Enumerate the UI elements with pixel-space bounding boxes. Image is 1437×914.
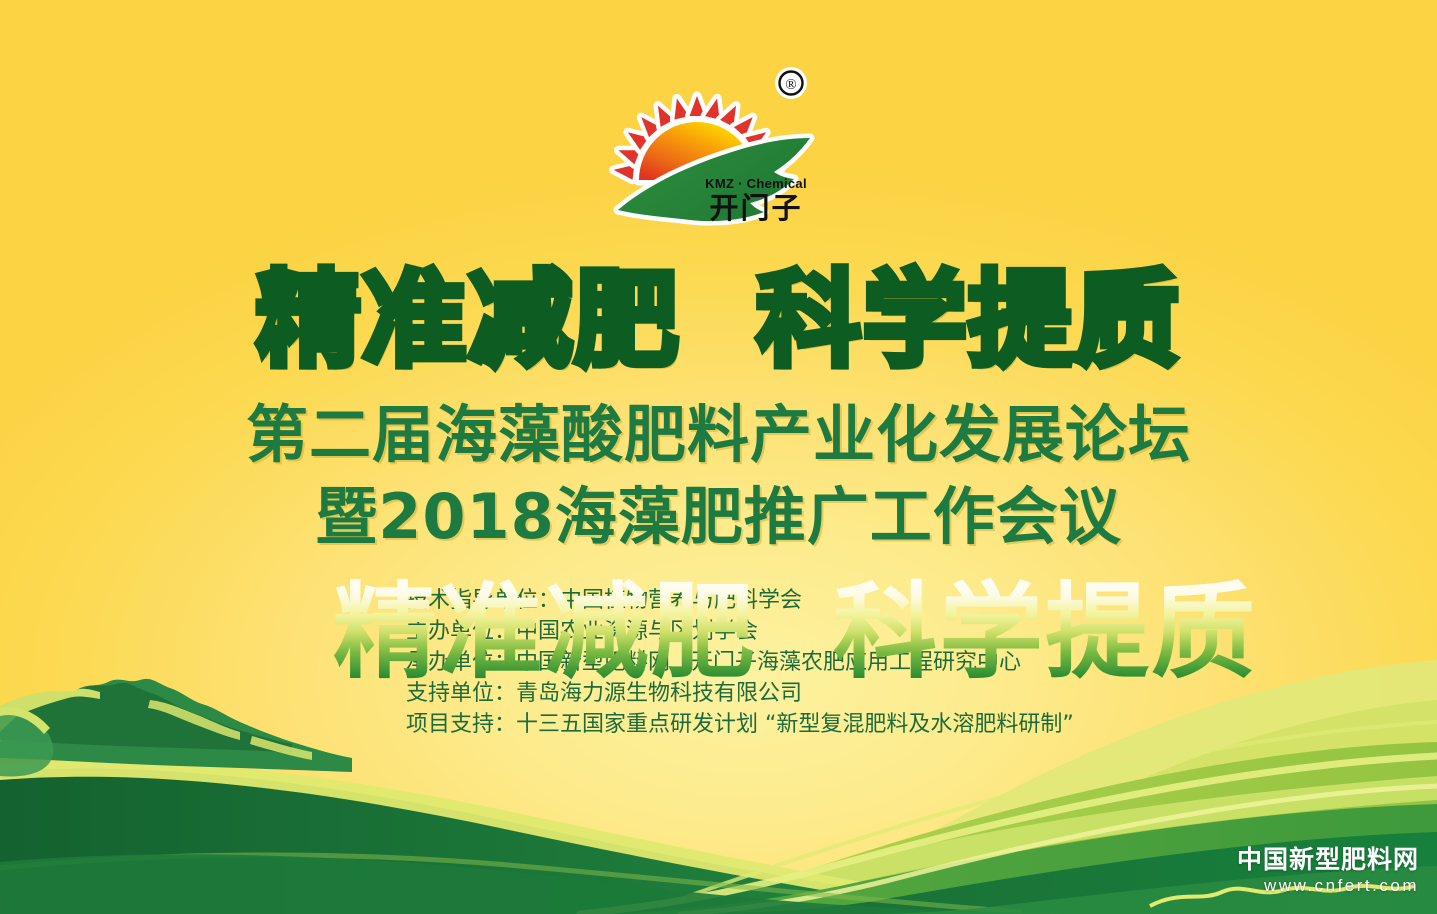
brand-cn-text: 开门子: [709, 191, 802, 225]
brand-latin-text: KMZ · Chemical: [705, 176, 807, 191]
headline-stroke-layer: 精准减肥 科学提质: [0, 268, 1437, 372]
site-watermark: 中国新型肥料网 www.cnfert.com: [1237, 845, 1419, 896]
hill-layer-foreground: [0, 854, 1437, 914]
conference-poster: ® KMZ · Chemical 开门子 精准减肥 科学提质 精准减肥 科学提质…: [0, 0, 1437, 914]
kmz-logo-mark: ® KMZ · Chemical 开门子: [604, 60, 834, 240]
watermark-site-name: 中国新型肥料网: [1237, 845, 1419, 875]
subtitle-line-2: 暨2018海藻肥推广工作会议: [0, 486, 1437, 548]
headline-fill-layer: 精准减肥 科学提质: [333, 571, 1257, 693]
company-logo: ® KMZ · Chemical 开门子: [0, 60, 1437, 240]
watermark-site-url: www.cnfert.com: [1237, 875, 1419, 896]
registered-mark-icon: ®: [775, 67, 807, 99]
registered-mark-glyph: ®: [785, 77, 796, 93]
subtitle-line-1: 第二届海藻酸肥料产业化发展论坛: [0, 404, 1437, 466]
detail-line-project-support: 项目支持：十三五国家重点研发计划 “新型复混肥料及水溶肥料研制”: [406, 709, 1166, 740]
